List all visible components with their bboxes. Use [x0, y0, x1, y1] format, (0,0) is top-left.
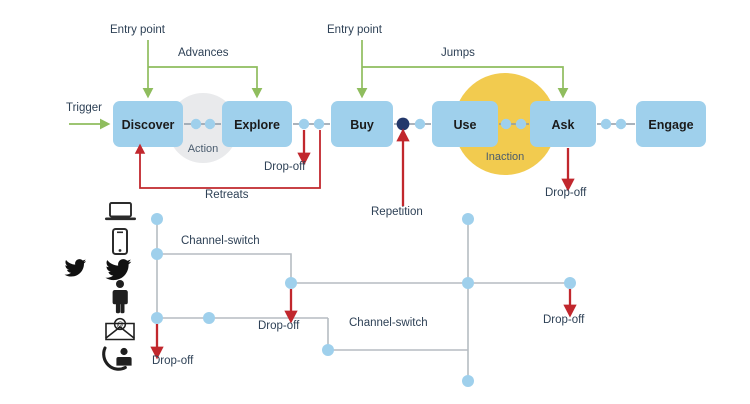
node-use[interactable]: Use [432, 101, 498, 147]
connector-dot [616, 119, 626, 129]
advances-arrow [148, 67, 257, 95]
label-retreats: Retreats [205, 189, 249, 201]
label-dropoff-ask: Drop-off [545, 187, 587, 199]
node-explore[interactable]: Explore [222, 101, 292, 147]
node-ask[interactable]: Ask [530, 101, 596, 147]
label-bottom-dropoff-1: Drop-off [152, 355, 194, 367]
label-channel-switch-2: Channel-switch [349, 317, 428, 329]
connector-dot [314, 119, 324, 129]
bottom-node-dot[interactable] [462, 375, 474, 387]
node-explore-label: Explore [234, 118, 280, 132]
label-bottom-dropoff-3: Drop-off [543, 314, 585, 326]
bottom-node-dot[interactable] [462, 213, 474, 225]
bottom-node-dot[interactable] [322, 344, 334, 356]
zone-action-label: Action [188, 143, 219, 155]
label-advances: Advances [178, 47, 229, 59]
laptop-icon [105, 203, 136, 220]
bottom-node-dot[interactable] [285, 277, 297, 289]
connector-dot [501, 119, 511, 129]
connector-dot [205, 119, 215, 129]
node-buy[interactable]: Buy [331, 101, 393, 147]
bottom-node-dot[interactable] [151, 248, 163, 260]
node-discover[interactable]: Discover [113, 101, 183, 147]
connector-dot [191, 119, 201, 129]
node-engage-label: Engage [648, 118, 693, 132]
label-repetition: Repetition [371, 206, 423, 218]
zone-inaction-label: Inaction [486, 151, 525, 163]
label-jumps: Jumps [441, 47, 475, 59]
node-buy-label: Buy [350, 118, 374, 132]
label-entry-point-1: Entry point [110, 24, 166, 36]
smartphone-icon [113, 229, 127, 254]
node-ask-label: Ask [552, 118, 575, 132]
journey-flow-svg: Discover Explore Buy Use Ask Engage Acti… [0, 0, 750, 404]
label-trigger: Trigger [66, 102, 102, 114]
bottom-node-dot[interactable] [462, 277, 474, 289]
repetition-node-dot [397, 118, 410, 131]
diagram-canvas: Discover Explore Buy Use Ask Engage Acti… [0, 0, 750, 404]
label-entry-point-2: Entry point [327, 24, 383, 36]
connector-dot [415, 119, 425, 129]
label-dropoff-explore: Drop-off [264, 161, 306, 173]
connector-dot [299, 119, 309, 129]
bottom-node-dot[interactable] [151, 312, 163, 324]
twitter-bird-icon [65, 259, 132, 280]
person-icon [113, 280, 128, 313]
node-use-label: Use [454, 118, 477, 132]
connector-dot [601, 119, 611, 129]
svg-text:@: @ [116, 322, 123, 329]
bottom-node-dot[interactable] [203, 312, 215, 324]
email-envelope-icon: @ [106, 319, 134, 340]
phone-support-icon [104, 348, 132, 369]
label-channel-switch-1: Channel-switch [181, 235, 260, 247]
label-bottom-dropoff-2: Drop-off [258, 320, 300, 332]
node-discover-label: Discover [122, 118, 175, 132]
connector-dot [516, 119, 526, 129]
node-engage[interactable]: Engage [636, 101, 706, 147]
bottom-node-dot[interactable] [564, 277, 576, 289]
bottom-node-dot[interactable] [151, 213, 163, 225]
